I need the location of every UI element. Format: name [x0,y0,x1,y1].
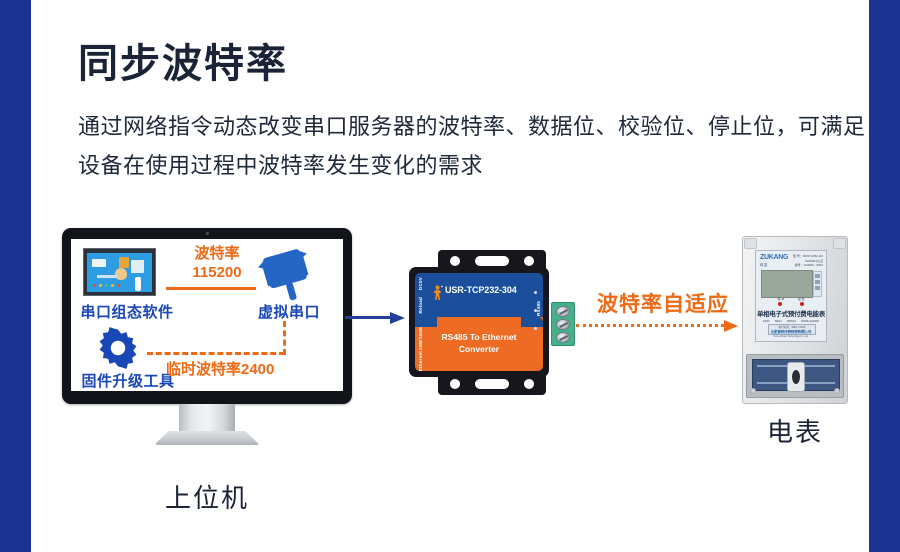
rs485-terminal-block [551,302,575,346]
baud-adaptive-label: 波特率自适应 [578,288,748,318]
temp-baud-label: 临时波特率2400 [166,358,336,379]
meter-side-slot [841,282,844,340]
meter-terminal-cover [746,354,844,398]
webcam-dot [206,232,209,235]
meter-led-label-alarm: 报 警 [798,297,804,301]
device-label-reload: Reload [418,297,423,314]
virtual-serial-port-label: 虚拟串口 [241,301,337,322]
meter-screw-right [834,388,840,394]
orange-dotted-arrow [576,320,741,332]
gear-icon [97,327,139,369]
temp-baud-dashed-horizontal [147,352,285,355]
baud-rate-value: 115200 [177,264,257,283]
meter-spec-block: 型 号：DDSY1352-1M ISO9001认证 编号：120000 - 00… [793,254,823,268]
meter-led-label-pulse: 脉 冲 [778,297,784,301]
device-label-ethernet: Ethernet [418,351,423,371]
blue-connection-arrow [345,312,407,324]
meter-front-panel: ZUKANG 珠 康 型 号：DDSY1352-1M ISO9001认证 编号：… [755,250,827,342]
device-function-line1: RS485 To Ethernet [415,331,543,343]
meter-tab-top-right [833,238,846,249]
terminal-screw-1 [556,306,570,317]
meter-led-alarm [800,302,804,306]
monitor-screen: 串口组态软件 固件升级工具 波特率 115200 [71,239,343,391]
meter-brand-sub: 珠 康 [760,262,767,267]
meter-led-labels: 脉 冲 报 警 [756,297,826,301]
meter-parameters: 220V 50Hz 5(60)A 1600imp/kWh [756,319,826,323]
left-blue-edge-bar [0,0,31,552]
electric-meter-illustration: ZUKANG 珠 康 型 号：DDSY1352-1M ISO9001认证 编号：… [742,236,848,404]
page-subtitle: 通过网络指令动态改变串口服务器的波特率、数据位、校验位、停止位，可满足设备在使用… [78,108,868,185]
led-indicator-1 [534,291,537,294]
meter-product-name: 单相电子式预付费电能表 [756,309,826,318]
electric-meter-caption: 电表 [732,412,858,449]
device-function-label: RS485 To Ethernet Converter [415,331,543,356]
monitor-stand-base [154,431,260,445]
terminal-screw-3 [556,332,570,343]
baud-rate-block: 波特率 115200 [177,245,257,283]
temp-baud-dashed-vertical [283,321,286,355]
device-label-dc5v: DC5V [418,277,423,290]
device-body: USR-TCP232-304 RS485 To Ethernet Convert… [409,267,549,377]
meter-manufacturer: 合肥真科仪表科技有限公司 HeFei Zhuke Technology Co.,… [756,330,826,339]
meter-screw-left [750,388,756,394]
device-function-line2: Converter [415,343,543,355]
right-blue-edge-bar [869,0,900,552]
meter-spec-line-3: 编号：120000 - 0001 [793,263,823,268]
meter-param-voltage: 220V [763,319,770,323]
meter-param-current: 5(60)A [787,319,796,323]
meter-brand-logo: ZUKANG [760,254,788,261]
meter-param-constant: 1600imp/kWh [801,319,819,323]
host-computer-caption: 上位机 [62,478,352,515]
terminal-screw-2 [556,319,570,330]
meter-side-buttons [813,271,822,297]
monitor-bezel: 串口组态软件 固件升级工具 波特率 115200 [62,228,352,404]
device-label-speed: 10M/100M [418,327,423,350]
usr-logo-icon [431,285,444,301]
meter-spec-line-1: 型 号：DDSY1352-1M [793,254,823,259]
virtual-serial-port-icon [257,247,319,303]
led-indicator-2 [534,309,537,312]
serial-server-device: USR-TCP232-304 RS485 To Ethernet Convert… [405,250,580,395]
meter-led-pulse [778,302,782,306]
meter-lcd-display [761,270,813,298]
meter-tab-top-left [744,238,757,249]
meter-terminal-block [752,359,840,391]
host-computer-illustration: 串口组态软件 固件升级工具 波特率 115200 [62,228,352,418]
baud-rate-solid-line [166,287,256,290]
baud-rate-title: 波特率 [177,245,257,264]
device-right-side-labels: RS485 [529,275,541,375]
device-label-rs485: RS485 [536,301,541,316]
led-indicator-3 [534,327,537,330]
meter-param-frequency: 50Hz [775,319,782,323]
software-label: 串口组态软件 [77,301,177,322]
meter-terminal-clip [787,362,805,392]
device-mount-ear-bottom [438,373,546,395]
meter-manufacturer-en: HeFei Zhuke Technology Co.,Ltd. [756,335,826,339]
monitor-stand-neck [179,404,235,434]
meter-led-indicators [756,302,826,306]
page-title: 同步波特率 [78,40,288,88]
serial-configuration-software-icon [83,248,156,296]
device-left-side-labels: DC5V Reload 10M/100M Ethernet [418,275,428,375]
